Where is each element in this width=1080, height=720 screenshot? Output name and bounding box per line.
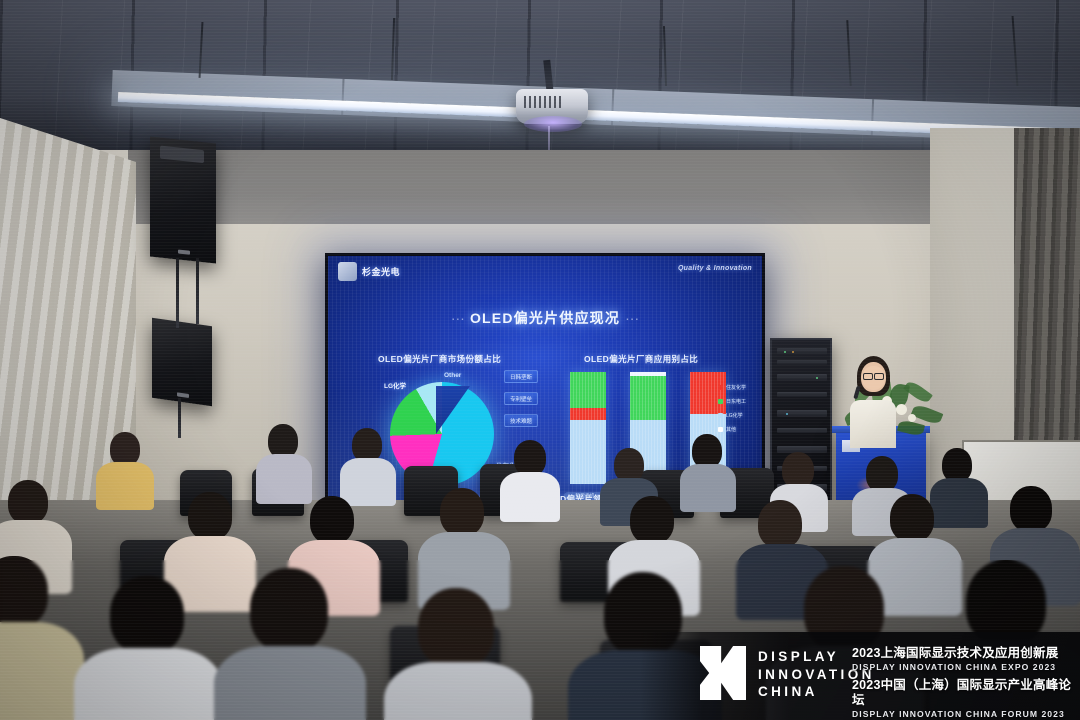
left-lower-speaker <box>152 318 212 406</box>
legend-item: 其他 <box>718 426 746 433</box>
slide-title-text: OLED偏光片供应现况 <box>470 310 620 326</box>
chip-patent-barrier: 专利壁垒 <box>504 392 538 405</box>
chip-tech-difficulty: 技术难题 <box>504 414 538 427</box>
bar-column <box>570 372 606 484</box>
legend-swatch-icon <box>718 427 723 432</box>
event-expo-block: 2023上海国际显示技术及应用创新展 DISPLAY INNOVATION CH… <box>852 646 1058 673</box>
bar-chart-legend: 住友化学 日东电工 LG化学 其他 <box>718 384 746 433</box>
company-logo-text: 杉金光电 <box>362 265 400 278</box>
slide-company-logo: 杉金光电 <box>338 262 400 281</box>
legend-swatch-icon <box>718 385 723 390</box>
legend-item: 日东电工 <box>718 398 746 405</box>
legend-item: LG化学 <box>718 412 746 419</box>
projector-lens-glow <box>524 116 582 132</box>
speaker-stand <box>178 398 181 438</box>
projector-vents-icon <box>524 96 564 108</box>
legend-label: 日东电工 <box>726 398 746 405</box>
upper-wall-band <box>128 150 930 224</box>
legend-label: 住友化学 <box>726 384 746 391</box>
legend-item: 住友化学 <box>718 384 746 391</box>
left-upper-speaker <box>150 137 216 264</box>
pie-chart-heading: OLED偏光片厂商市场份额占比 <box>378 353 501 365</box>
legend-label: 其他 <box>726 426 736 433</box>
event-forum-title-en: DISPLAY INNOVATION CHINA FORUM 2023 <box>852 708 1080 720</box>
pie-label-lg: LG化学 <box>384 380 406 390</box>
bar-chart-heading: OLED偏光片厂商应用别占比 <box>584 353 698 365</box>
dic-logo <box>700 646 746 700</box>
company-logo-icon <box>338 262 357 281</box>
legend-label: LG化学 <box>726 412 743 419</box>
event-forum-title-cn: 2023中国（上海）国际显示产业高峰论坛 <box>852 678 1080 708</box>
legend-swatch-icon <box>718 413 723 418</box>
title-decor-left: ··· <box>451 310 465 326</box>
event-forum-block: 2023中国（上海）国际显示产业高峰论坛 DISPLAY INNOVATION … <box>852 678 1080 720</box>
event-expo-title-cn: 2023上海国际显示技术及应用创新展 <box>852 646 1058 661</box>
slide-tagline: Quality & Innovation <box>678 265 752 272</box>
presenter-body <box>850 400 896 448</box>
presenter-glasses-icon <box>863 373 884 378</box>
speaker-pole <box>196 258 199 324</box>
title-decor-right: ··· <box>625 310 639 326</box>
event-expo-title-en: DISPLAY INNOVATION CHINA EXPO 2023 <box>852 661 1058 673</box>
legend-swatch-icon <box>718 399 723 404</box>
dic-logo-mark-icon <box>700 646 746 700</box>
conference-scene: 杉金光电 Quality & Innovation ··· OLED偏光片供应现… <box>0 0 1080 720</box>
pie-label-other: Other <box>444 372 461 379</box>
slide-title: ··· OLED偏光片供应现况 ··· <box>328 308 762 328</box>
speaker-pole <box>176 258 179 328</box>
chip-monopoly: 日韩垄断 <box>504 370 538 383</box>
